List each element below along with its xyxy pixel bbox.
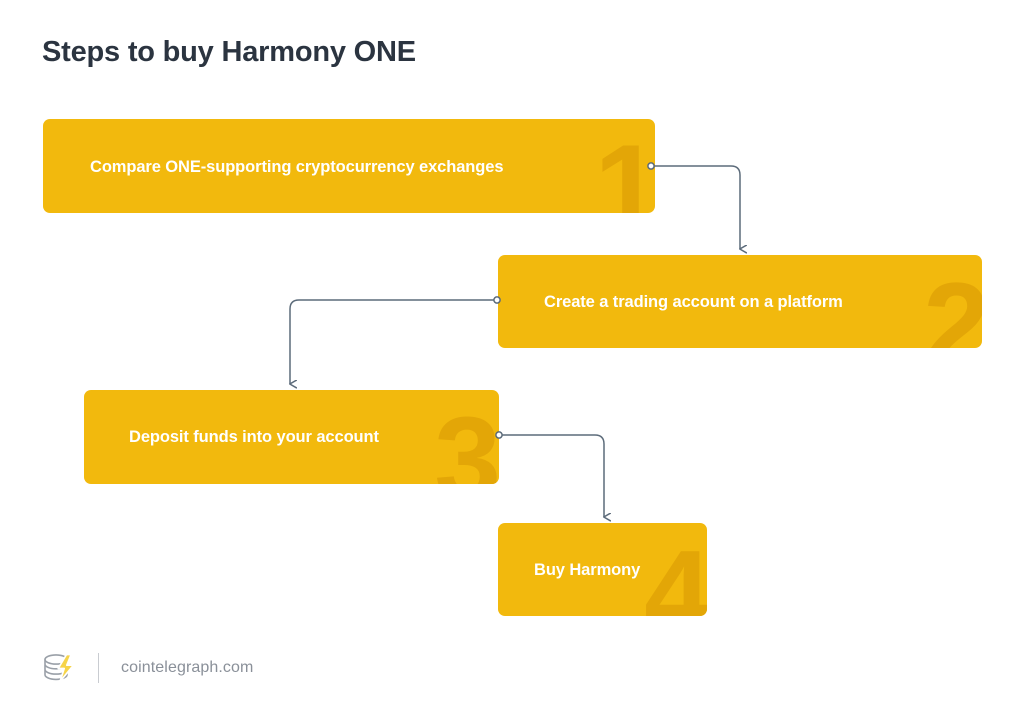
step-label-3: Deposit funds into your account	[129, 428, 379, 447]
infographic-canvas: Steps to buy Harmony ONE 1 Compare ONE-s…	[0, 0, 1024, 728]
step-number-watermark-1: 1	[594, 127, 655, 213]
page-title: Steps to buy Harmony ONE	[42, 36, 416, 69]
connector-arrows	[0, 0, 1024, 728]
step-number-watermark-3: 3	[434, 399, 499, 484]
step-label-4: Buy Harmony	[534, 561, 640, 580]
step-box-4: 4 Buy Harmony	[498, 523, 707, 616]
step-number-watermark-2: 2	[923, 265, 982, 348]
step-box-3: 3 Deposit funds into your account	[84, 390, 499, 484]
footer-divider	[98, 653, 99, 683]
connector-3-to-4	[496, 432, 604, 517]
connector-1-to-2	[648, 163, 740, 249]
step-label-2: Create a trading account on a platform	[544, 293, 843, 312]
step-label-1: Compare ONE-supporting cryptocurrency ex…	[90, 158, 503, 177]
footer-site-label: cointelegraph.com	[121, 659, 253, 677]
step-box-2: 2 Create a trading account on a platform	[498, 255, 982, 348]
step-box-1: 1 Compare ONE-supporting cryptocurrency …	[43, 119, 655, 213]
connector-2-to-3	[290, 297, 500, 384]
step-number-watermark-4: 4	[644, 533, 707, 616]
cointelegraph-coins-lightning-logo-icon	[42, 651, 78, 685]
footer: cointelegraph.com	[42, 648, 253, 688]
